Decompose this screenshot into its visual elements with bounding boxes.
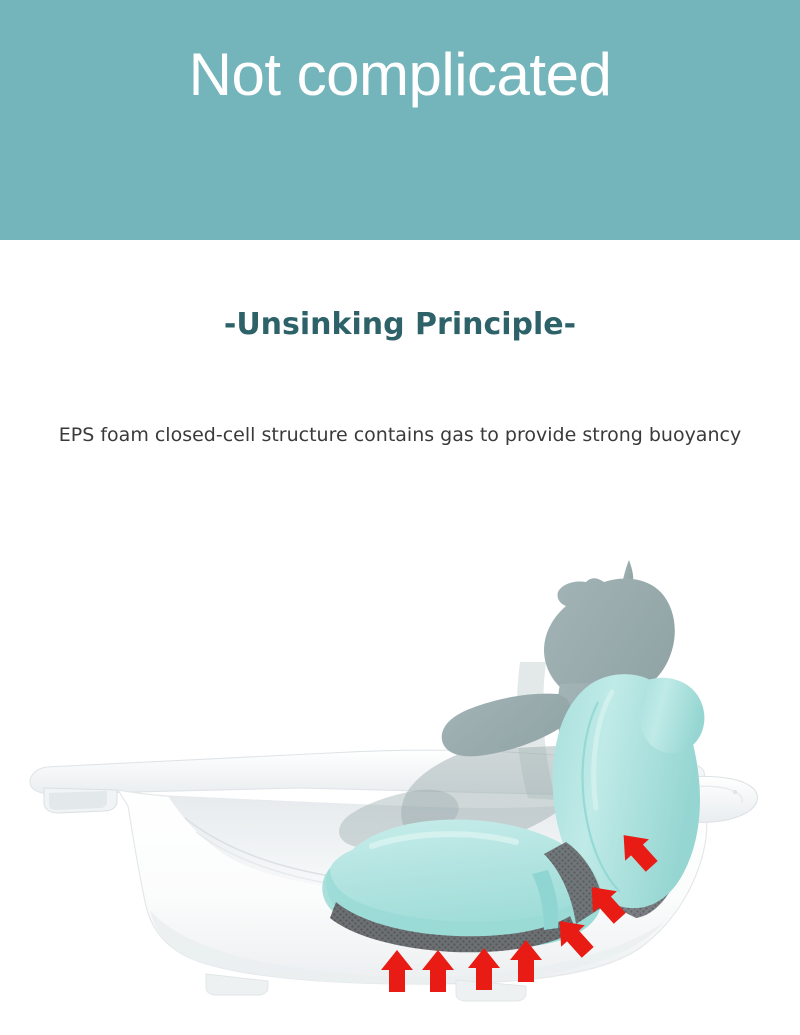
bathtub-rim-dot xyxy=(733,790,737,794)
hero-banner: Not complicated xyxy=(0,0,800,240)
cushion-head-wing xyxy=(640,678,704,753)
section-heading: -Unsinking Principle- xyxy=(0,307,800,342)
section-description: EPS foam closed-cell structure contains … xyxy=(0,424,800,446)
product-illustration xyxy=(0,550,800,1035)
page-title: Not complicated xyxy=(189,42,612,108)
bathtub-foot-left xyxy=(206,974,268,995)
